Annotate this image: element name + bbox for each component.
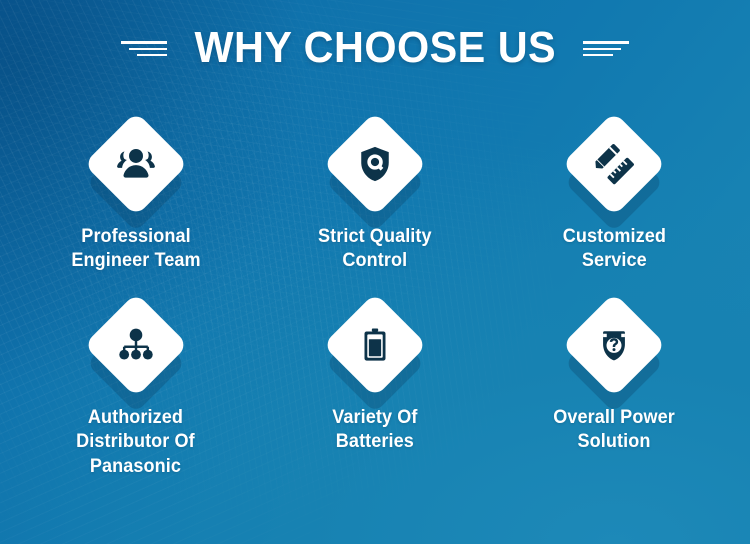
page-title: WHY CHOOSE US [194, 26, 556, 70]
why-choose-us-banner: WHY CHOOSE US Professional Eng [0, 0, 750, 544]
banner-header: WHY CHOOSE US [0, 26, 750, 70]
feature-item-professional-engineer-team[interactable]: Professional Engineer Team [16, 112, 255, 273]
feature-icon-tile [84, 293, 188, 397]
feature-label: Customized Service [563, 225, 666, 273]
title-decoration-left-icon [121, 41, 167, 56]
feature-label: Authorized Distributor Of Panasonic [76, 406, 195, 478]
battery-icon [352, 322, 398, 368]
feature-label: Overall Power Solution [553, 406, 675, 454]
feature-item-authorized-distributor[interactable]: Authorized Distributor Of Panasonic [16, 293, 255, 478]
feature-item-customized-service[interactable]: Customized Service [495, 112, 734, 273]
feature-icon-tile [323, 293, 427, 397]
hierarchy-network-icon [113, 322, 159, 368]
feature-grid: Professional Engineer Team Strict Qualit… [16, 112, 734, 479]
ruler-pencil-icon [591, 141, 637, 187]
feature-icon-tile [562, 293, 666, 397]
feature-label: Professional Engineer Team [71, 225, 200, 273]
shield-question-icon [591, 322, 637, 368]
feature-item-variety-of-batteries[interactable]: Variety Of Batteries [255, 293, 494, 478]
title-decoration-right-icon [583, 41, 629, 56]
feature-icon-tile [323, 112, 427, 216]
feature-label: Variety Of Batteries [332, 406, 417, 454]
feature-icon-tile [562, 112, 666, 216]
people-group-icon [113, 141, 159, 187]
shield-quality-q-icon [352, 141, 398, 187]
feature-icon-tile [84, 112, 188, 216]
feature-item-strict-quality-control[interactable]: Strict Quality Control [255, 112, 494, 273]
feature-label: Strict Quality Control [318, 225, 432, 273]
feature-item-overall-power-solution[interactable]: Overall Power Solution [495, 293, 734, 478]
